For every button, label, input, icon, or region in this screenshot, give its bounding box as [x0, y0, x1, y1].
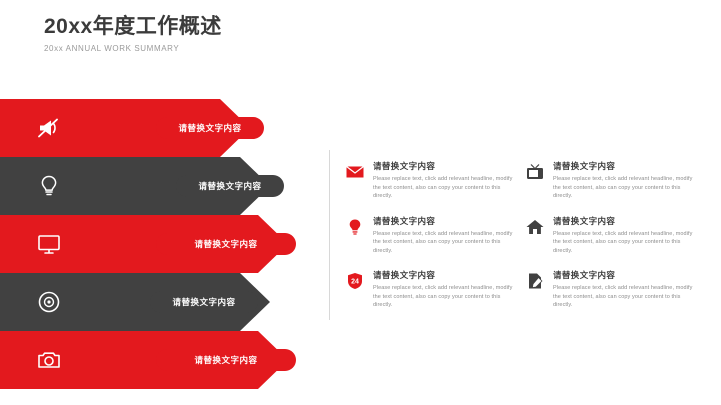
pill-2[interactable]: 请替换文字内容: [176, 175, 284, 197]
shield-24-icon: 24: [345, 269, 373, 310]
content-item-2-desc: Please replace text, click add relevant …: [553, 175, 693, 201]
content-item-2-text: 请替换文字内容 Please replace text, click add r…: [553, 160, 705, 201]
content-item-3-desc: Please replace text, click add relevant …: [373, 230, 513, 256]
content-item-4-text: 请替换文字内容 Please replace text, click add r…: [553, 215, 705, 256]
content-item-4[interactable]: 请替换文字内容 Please replace text, click add r…: [525, 215, 705, 270]
content-item-5-title: 请替换文字内容: [373, 269, 513, 281]
content-item-5-desc: Please replace text, click add relevant …: [373, 284, 513, 310]
tile-5[interactable]: [0, 331, 98, 389]
content-item-4-title: 请替换文字内容: [553, 215, 693, 227]
content-item-5-text: 请替换文字内容 Please replace text, click add r…: [373, 269, 525, 310]
content-item-6-text: 请替换文字内容 Please replace text, click add r…: [553, 269, 705, 310]
house-icon: [525, 215, 553, 256]
content-item-2-title: 请替换文字内容: [553, 160, 693, 172]
pill-5[interactable]: 请替换文字内容: [156, 349, 296, 371]
right-content-grid: 请替换文字内容 Please replace text, click add r…: [345, 160, 705, 324]
svg-text:24: 24: [351, 278, 359, 285]
content-item-1-title: 请替换文字内容: [373, 160, 513, 172]
grid-row-1: 请替换文字内容 Please replace text, click add r…: [345, 160, 705, 215]
pill-5-label: 请替换文字内容: [194, 354, 257, 366]
pill-1-label: 请替换文字内容: [178, 122, 241, 134]
grid-row-2: 请替换文字内容 Please replace text, click add r…: [345, 215, 705, 270]
page-subtitle: 20xx ANNUAL WORK SUMMARY: [44, 44, 222, 53]
content-item-1-desc: Please replace text, click add relevant …: [373, 175, 513, 201]
pill-3-label: 请替换文字内容: [194, 238, 257, 250]
pill-2-label: 请替换文字内容: [198, 180, 261, 192]
camera-icon: [36, 347, 62, 373]
content-item-3[interactable]: 请替换文字内容 Please replace text, click add r…: [345, 215, 525, 270]
left-ribbon-stack: 请替换文字内容 请替换文字内容 请替换文字内容 请替换文字内容 请替换文字内容: [0, 99, 320, 389]
cd-disc-icon: [36, 289, 62, 315]
pill-4[interactable]: 请替换文字内容: [150, 291, 258, 313]
content-item-1-text: 请替换文字内容 Please replace text, click add r…: [373, 160, 525, 201]
pill-4-label: 请替换文字内容: [172, 296, 235, 308]
envelope-icon: [345, 160, 373, 201]
slide-canvas: 20xx年度工作概述 20xx ANNUAL WORK SUMMARY: [0, 0, 721, 405]
television-icon: [525, 160, 553, 201]
tile-4[interactable]: [0, 273, 98, 331]
content-item-1[interactable]: 请替换文字内容 Please replace text, click add r…: [345, 160, 525, 215]
monitor-icon: [36, 231, 62, 257]
tile-2[interactable]: [0, 157, 98, 215]
vertical-divider: [329, 150, 330, 320]
title-block: 20xx年度工作概述 20xx ANNUAL WORK SUMMARY: [44, 14, 222, 53]
lightbulb-icon: [345, 215, 373, 256]
tile-3[interactable]: [0, 215, 98, 273]
content-item-6[interactable]: 请替换文字内容 Please replace text, click add r…: [525, 269, 705, 324]
content-item-5[interactable]: 24 请替换文字内容 Please replace text, click ad…: [345, 269, 525, 324]
page-title: 20xx年度工作概述: [44, 14, 222, 40]
megaphone-mute-icon: [36, 115, 62, 141]
content-item-2[interactable]: 请替换文字内容 Please replace text, click add r…: [525, 160, 705, 215]
pill-1[interactable]: 请替换文字内容: [156, 117, 264, 139]
content-item-6-title: 请替换文字内容: [553, 269, 693, 281]
content-item-3-text: 请替换文字内容 Please replace text, click add r…: [373, 215, 525, 256]
pill-3[interactable]: 请替换文字内容: [156, 233, 296, 255]
content-item-4-desc: Please replace text, click add relevant …: [553, 230, 693, 256]
tile-1[interactable]: [0, 99, 98, 157]
content-item-3-title: 请替换文字内容: [373, 215, 513, 227]
grid-row-3: 24 请替换文字内容 Please replace text, click ad…: [345, 269, 705, 324]
content-item-6-desc: Please replace text, click add relevant …: [553, 284, 693, 310]
pen-document-icon: [525, 269, 553, 310]
lightbulb-icon: [36, 173, 62, 199]
